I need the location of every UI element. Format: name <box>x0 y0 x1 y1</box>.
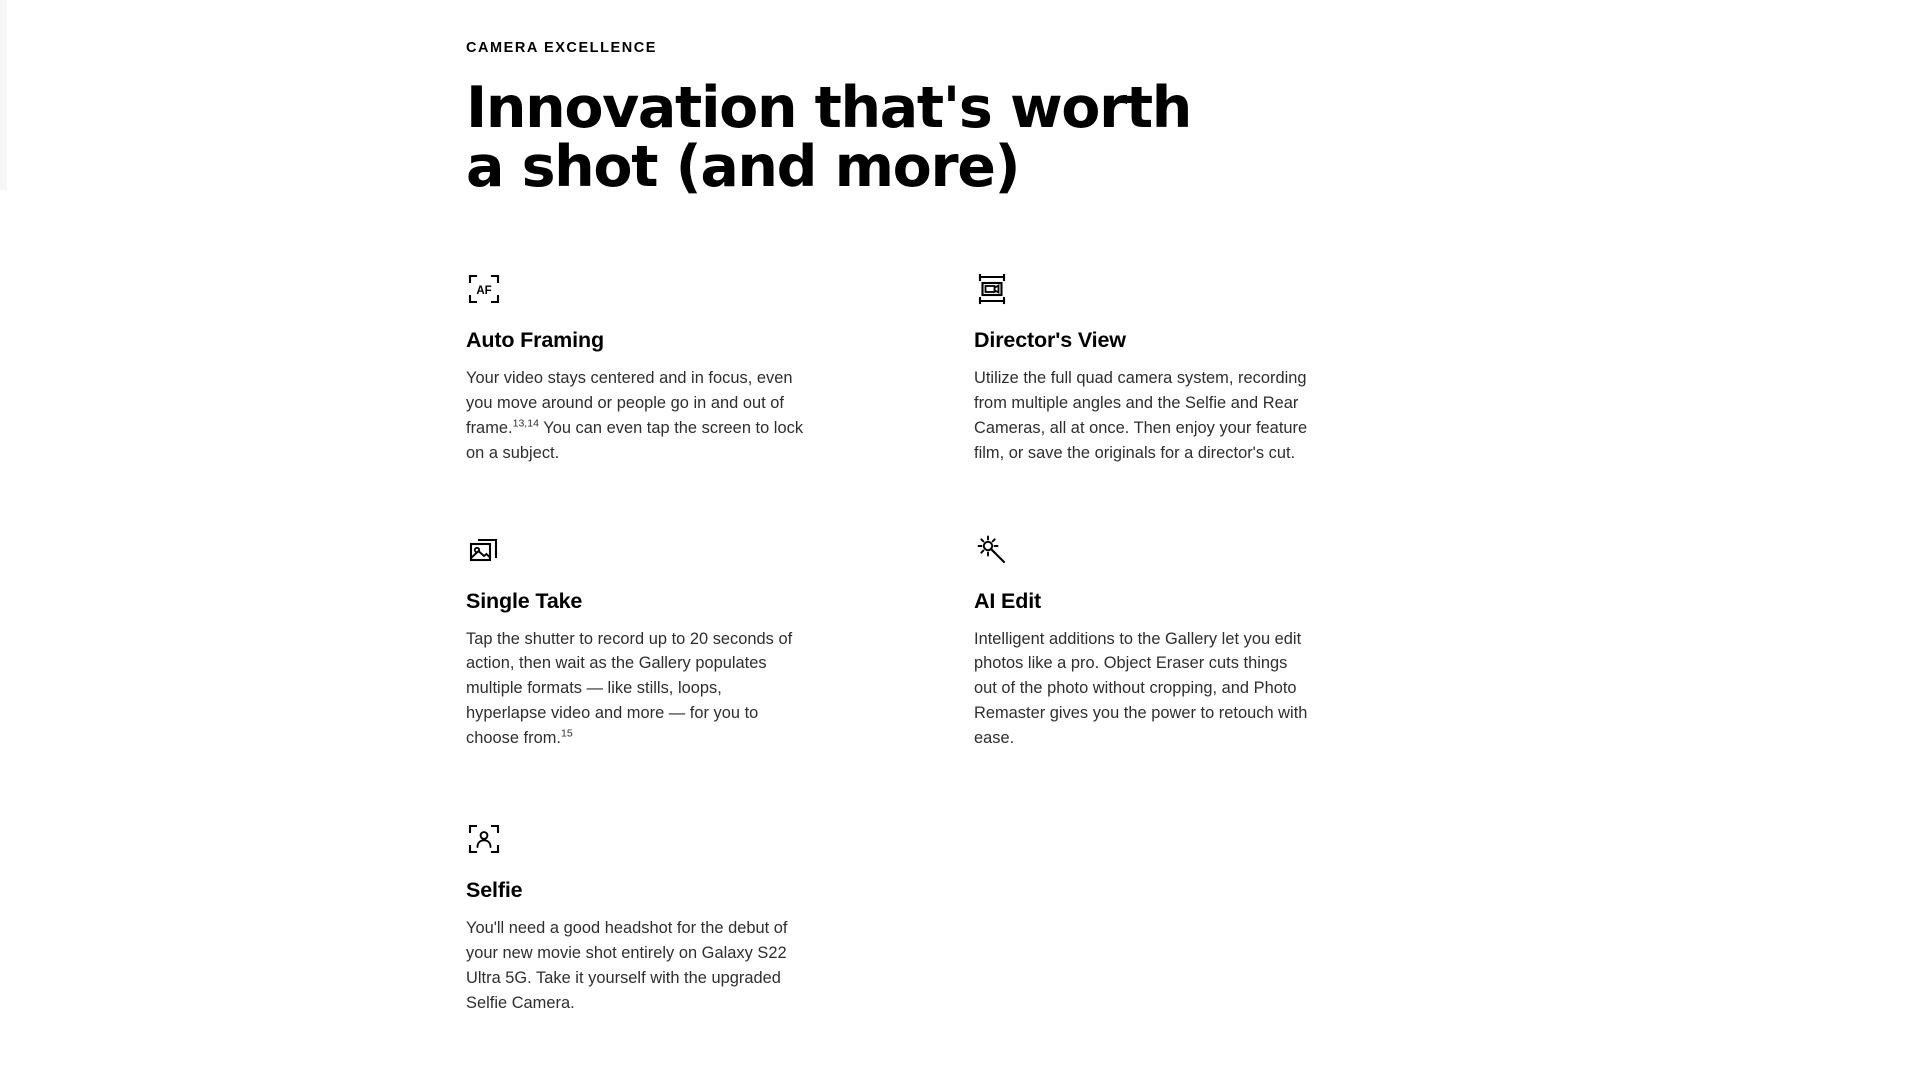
section-eyebrow: CAMERA EXCELLENCE <box>466 36 1920 56</box>
feature-card-selfie: Selfie You'll need a good headshot for t… <box>466 821 806 1082</box>
headline-line-1: Innovation that's worth <box>466 79 1226 138</box>
feature-card-single-take: Single Take Tap the shutter to record up… <box>466 532 806 822</box>
stacked-photos-icon <box>466 532 502 568</box>
feature-body-text: Intelligent additions to the Gallery let… <box>974 630 1307 748</box>
feature-body: Tap the shutter to record up to 20 secon… <box>466 627 806 752</box>
feature-body-text: You'll need a good headshot for the debu… <box>466 919 787 1012</box>
camera-excellence-section: CAMERA EXCELLENCE Innovation that's wort… <box>0 0 1920 1056</box>
feature-body: Your video stays centered and in focus, … <box>466 366 806 466</box>
page-title: Innovation that's worth a shot (and more… <box>466 79 1226 198</box>
feature-body: Utilize the full quad camera system, rec… <box>974 366 1314 466</box>
feature-card-auto-framing: AF Auto Framing Your video stays centere… <box>466 271 806 532</box>
film-strip-video-camera-icon <box>974 271 1010 307</box>
feature-card-ai-edit: AI Edit Intelligent additions to the Gal… <box>974 532 1314 822</box>
footnote-marker: 15 <box>561 728 573 740</box>
headline-line-2: a shot (and more) <box>466 138 1226 197</box>
svg-text:AF: AF <box>476 285 491 297</box>
feature-body-text: Utilize the full quad camera system, rec… <box>974 369 1307 462</box>
feature-title: Selfie <box>466 877 806 904</box>
auto-focus-brackets-icon: AF <box>466 271 502 307</box>
feature-title: Director's View <box>974 327 1314 354</box>
footnote-marker: 13,14 <box>513 417 539 429</box>
feature-title: AI Edit <box>974 588 1314 615</box>
selfie-person-brackets-icon <box>466 821 502 857</box>
feature-body-text: Tap the shutter to record up to 20 secon… <box>466 630 792 748</box>
feature-grid: AF Auto Framing Your video stays centere… <box>466 271 1486 1082</box>
magic-wand-sparkle-icon <box>974 532 1010 568</box>
feature-title: Single Take <box>466 588 806 615</box>
feature-card-directors-view: Director's View Utilize the full quad ca… <box>974 271 1314 532</box>
feature-title: Auto Framing <box>466 327 806 354</box>
feature-body: Intelligent additions to the Gallery let… <box>974 627 1314 752</box>
feature-body: You'll need a good headshot for the debu… <box>466 916 806 1016</box>
